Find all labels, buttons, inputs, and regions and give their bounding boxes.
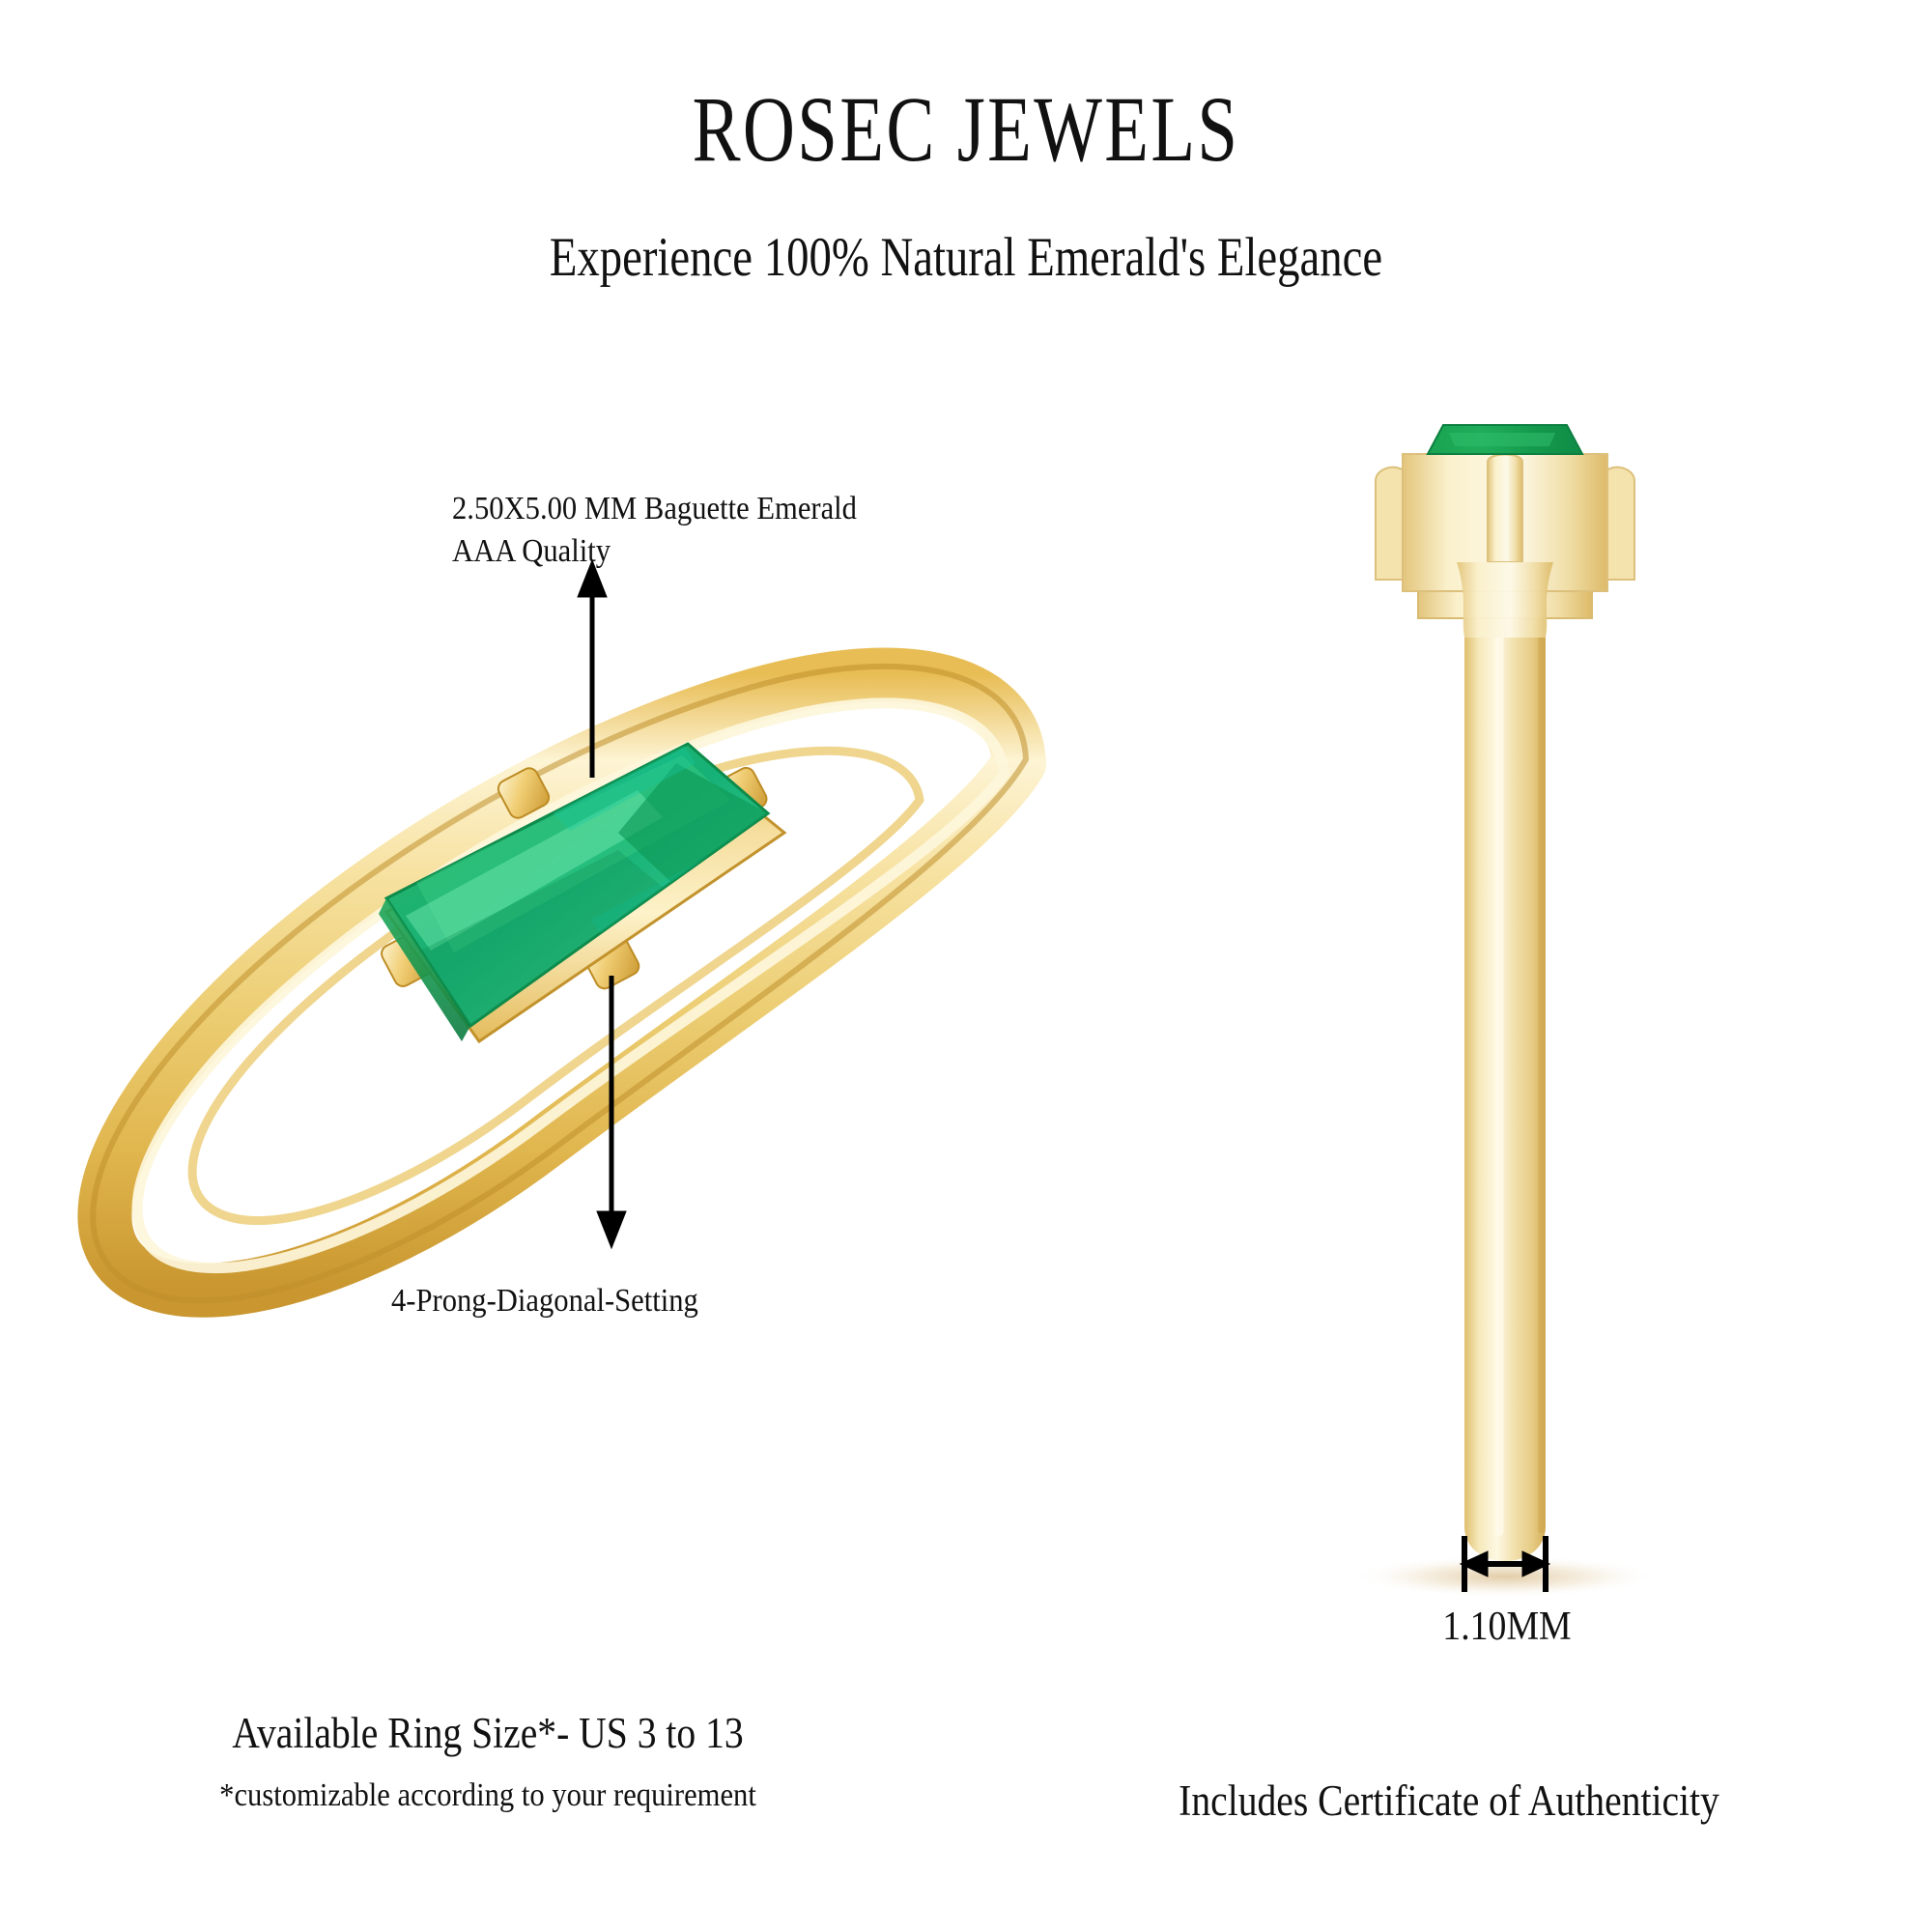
profile-band	[1464, 541, 1546, 1561]
profile-center-prong	[1488, 455, 1522, 563]
gemstone-callout-line1: 2.50X5.00 MM Baguette Emerald	[452, 488, 857, 530]
product-infographic: ROSEC JEWELS Experience 100% Natural Eme…	[0, 0, 1932, 1932]
gemstone-callout-line2: AAA Quality	[452, 530, 857, 573]
setting-callout-label: 4-Prong-Diagonal-Setting	[391, 1280, 698, 1322]
certificate-of-authenticity-text: Includes Certificate of Authenticity	[1024, 1776, 1874, 1826]
profile-prong-right	[1607, 468, 1634, 580]
band-width-label: 1.10MM	[1342, 1604, 1672, 1650]
profile-gem-table-highlight	[1449, 433, 1555, 446]
gemstone-callout: 2.50X5.00 MM Baguette Emerald AAA Qualit…	[452, 488, 857, 573]
available-ring-size-text: Available Ring Size*- US 3 to 13	[59, 1708, 918, 1758]
setting-leader-arrowhead	[597, 1211, 626, 1248]
ring-top-view	[93, 667, 1026, 1300]
profile-prong-left	[1376, 468, 1403, 580]
ring-profile-view	[1350, 425, 1660, 1598]
ring-size-customization-note: *customizable according to your requirem…	[49, 1777, 927, 1814]
setting-callout: 4-Prong-Diagonal-Setting	[391, 1280, 698, 1322]
profile-shank-junction	[1457, 562, 1553, 638]
